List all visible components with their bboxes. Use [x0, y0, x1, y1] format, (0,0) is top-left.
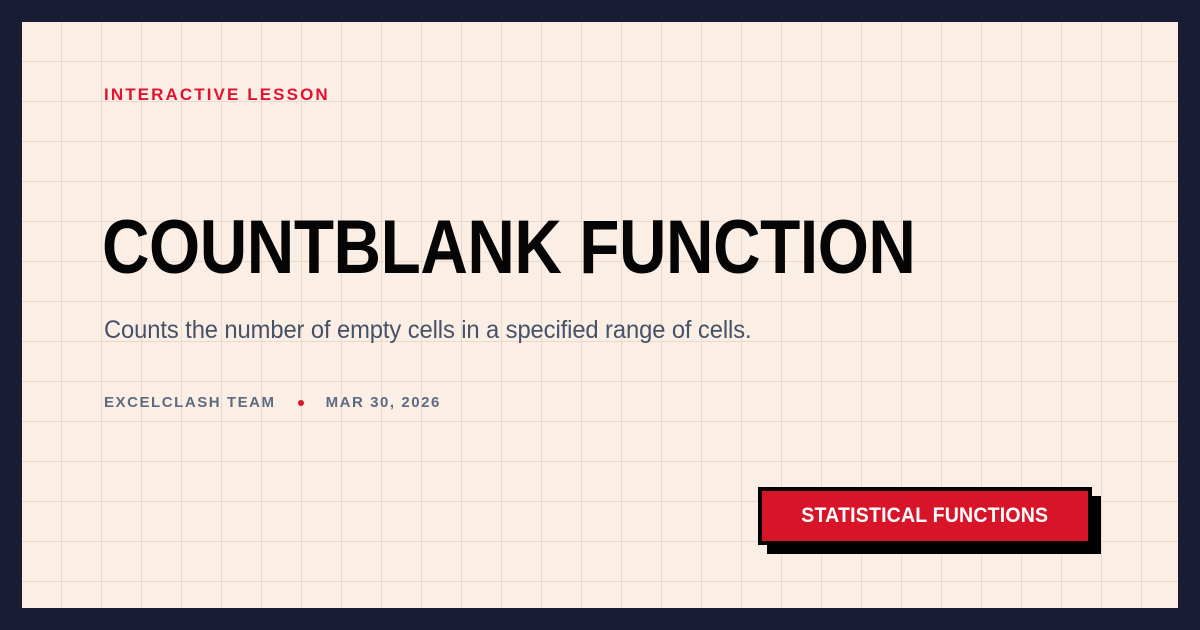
- category-badge[interactable]: STATISTICAL FUNCTIONS: [758, 487, 1092, 545]
- page-subtitle: Counts the number of empty cells in a sp…: [104, 314, 751, 347]
- byline-date: MAR 30, 2026: [326, 395, 441, 410]
- grid-canvas: INTERACTIVE LESSON COUNTBLANK FUNCTION C…: [22, 22, 1178, 608]
- page-title: COUNTBLANK FUNCTION: [102, 210, 915, 286]
- kicker-label: INTERACTIVE LESSON: [104, 86, 330, 103]
- byline: EXCELCLASH TEAM MAR 30, 2026: [104, 395, 441, 410]
- bullet-dot-icon: [298, 400, 304, 406]
- outer-frame: INTERACTIVE LESSON COUNTBLANK FUNCTION C…: [0, 0, 1200, 630]
- byline-author: EXCELCLASH TEAM: [104, 395, 276, 410]
- category-badge-label: STATISTICAL FUNCTIONS: [802, 505, 1049, 526]
- category-badge-wrapper: STATISTICAL FUNCTIONS: [758, 487, 1092, 545]
